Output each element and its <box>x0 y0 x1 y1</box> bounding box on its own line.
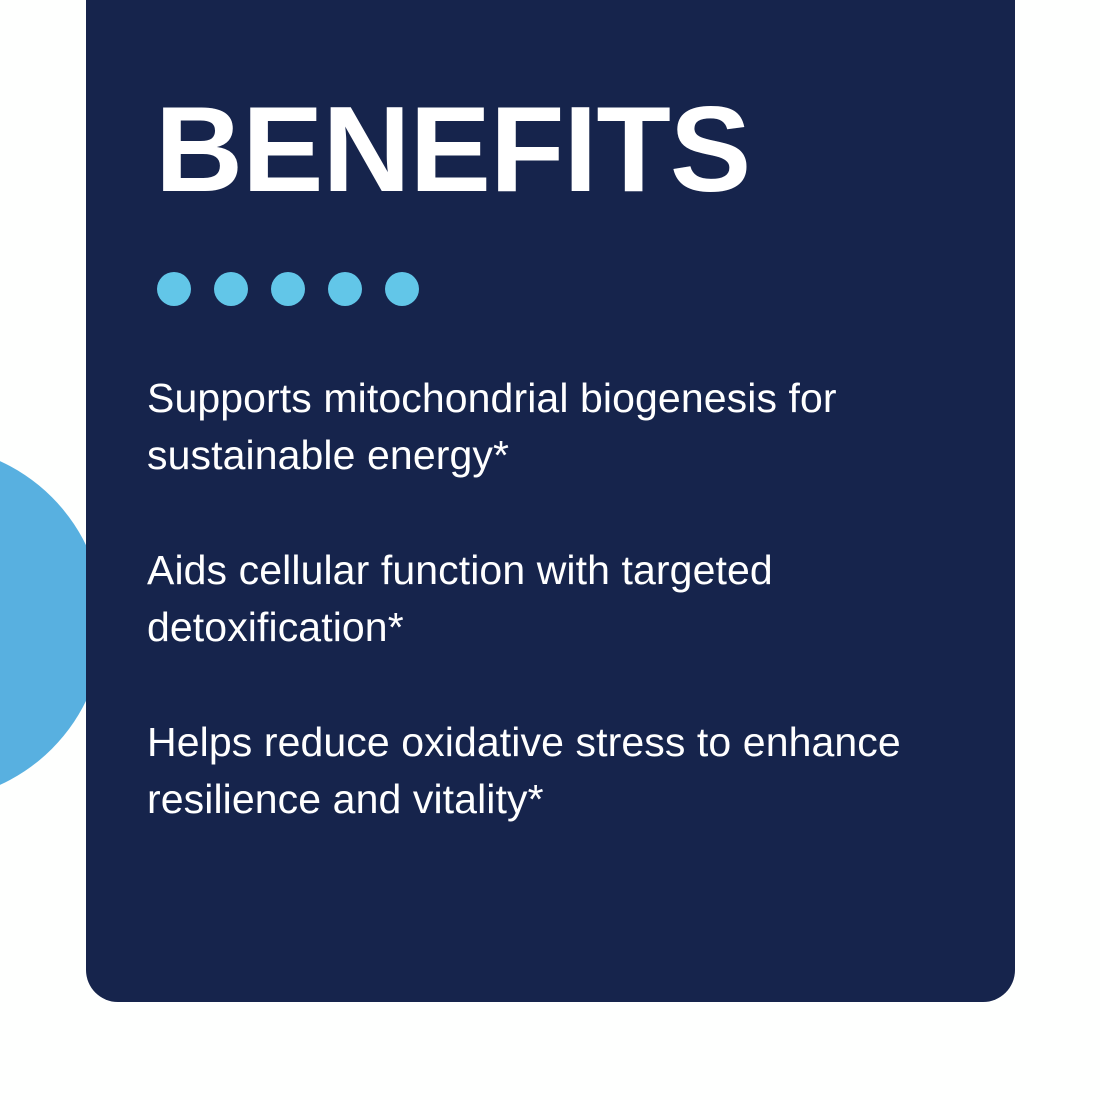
divider-dot-1 <box>157 272 191 306</box>
divider-dot-2 <box>214 272 248 306</box>
benefit-item: Helps reduce oxidative stress to enhance… <box>147 714 967 828</box>
page-title: BENEFITS <box>155 88 750 210</box>
benefits-card: BENEFITS Supports mitochondrial biogenes… <box>86 0 1015 1002</box>
benefit-item: Aids cellular function with targeted det… <box>147 542 967 656</box>
divider-dot-5 <box>385 272 419 306</box>
benefit-item: Supports mitochondrial biogenesis for su… <box>147 370 967 484</box>
divider-dot-3 <box>271 272 305 306</box>
divider-dot-4 <box>328 272 362 306</box>
benefits-panel: BENEFITS Supports mitochondrial biogenes… <box>0 0 1100 1100</box>
dot-divider <box>157 272 419 306</box>
benefits-list: Supports mitochondrial biogenesis for su… <box>147 370 967 828</box>
